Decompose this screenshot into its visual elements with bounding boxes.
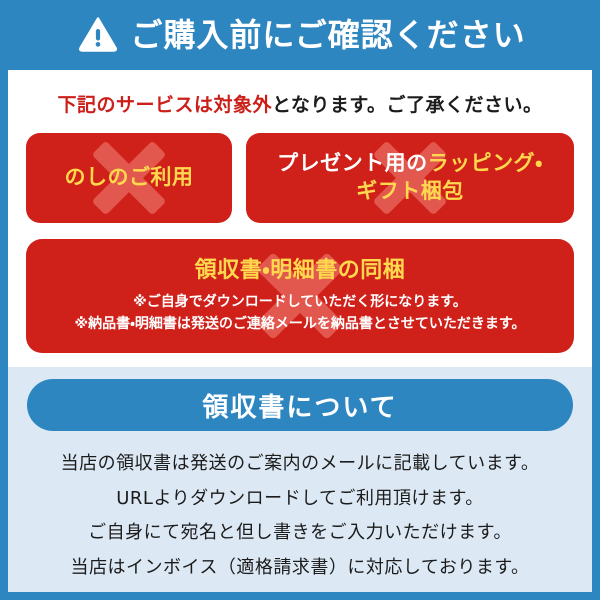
receipt-info-line: 当店の領収書は発送のご案内のメールに記載しています。 xyxy=(61,453,540,475)
exclusion-receipt-title: 領収書・明細書の同梱 xyxy=(75,256,526,285)
notice-card: 下記のサービスは対象外となります。ご了承ください。 のしのご利用 プレゼント用の… xyxy=(8,70,592,592)
exclusion-receipt-note-2: ※納品書・明細書は発送のご連絡メールを納品書とさせていただきます。 xyxy=(75,314,526,336)
gift-line2-yellow: ギフト梱包 xyxy=(356,179,464,203)
receipt-info-section: 領収書について 当店の領収書は発送のご案内のメールに記載しています。 URLより… xyxy=(8,367,592,592)
gift-line1-white: プレゼント用の xyxy=(277,151,428,175)
exclusion-box-noshi: のしのご利用 xyxy=(26,133,232,223)
receipt-info-title: 領収書について xyxy=(202,387,397,424)
exclusion-box-row: のしのご利用 プレゼント用のラッピング・ギフト梱包 xyxy=(26,133,574,223)
subtitle-highlight: 下記のサービスは対象外 xyxy=(57,94,272,116)
exclusion-receipt-note-1: ※ご自身でダウンロードしていただく形になります。 xyxy=(75,292,526,314)
exclusions-subtitle: 下記のサービスは対象外となります。ご了承ください。 xyxy=(26,90,574,117)
gift-line1-yellow: ラッピング・ xyxy=(428,151,543,175)
receipt-info-line: ご自身にて宛名と但し書きをご入力いただけます。 xyxy=(88,522,512,544)
receipt-info-banner: 領収書について xyxy=(27,379,573,431)
exclusion-box-receipt-enclosure: 領収書・明細書の同梱 ※ご自身でダウンロードしていただく形になります。 ※納品書… xyxy=(26,239,574,353)
banner-header: ご購入前にご確認ください xyxy=(0,0,600,70)
exclusion-box-gift-wrapping: プレゼント用のラッピング・ギフト梱包 xyxy=(246,133,574,223)
exclusion-label-noshi: のしのご利用 xyxy=(65,164,194,192)
exclusions-section: 下記のサービスは対象外となります。ご了承ください。 のしのご利用 プレゼント用の… xyxy=(8,70,592,367)
exclusion-label-gift-wrapping: プレゼント用のラッピング・ギフト梱包 xyxy=(277,150,543,205)
warning-triangle-icon xyxy=(78,15,118,55)
receipt-info-line: 当店はインボイス（適格請求書）に対応しております。 xyxy=(70,557,529,579)
exclusion-receipt-content: 領収書・明細書の同梱 ※ご自身でダウンロードしていただく形になります。 ※納品書… xyxy=(75,256,526,335)
receipt-info-line: URLよりダウンロードしてご利用頂けます。 xyxy=(116,488,484,510)
purchase-notice-banner: ご購入前にご確認ください 下記のサービスは対象外となります。ご了承ください。 の… xyxy=(0,0,600,600)
receipt-info-body: 当店の領収書は発送のご案内のメールに記載しています。 URLよりダウンロードして… xyxy=(61,453,540,578)
subtitle-rest: となります。ご了承ください。 xyxy=(272,94,543,116)
page-title: ご購入前にご確認ください xyxy=(130,19,525,51)
